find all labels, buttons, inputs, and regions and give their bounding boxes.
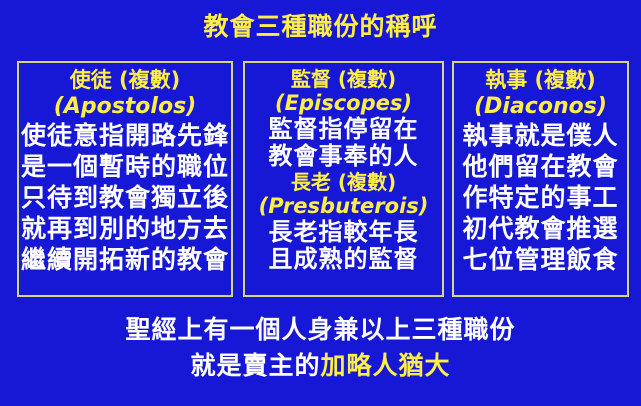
box-3-body-line-4: 初代教會推選 [454,213,627,244]
box-3-heading-greek: (Diaconos) [454,93,627,120]
page-title: 教會三種職份的稱呼 [0,12,641,42]
box-2-heading2-greek: (Presbuterois) [245,194,442,219]
box-2-body2-line-2: 且成熟的監督 [245,246,442,273]
footer-note: 聖經上有一個人身兼以上三種職份 就是賣主的加略人猶大 [0,312,641,384]
footer-line-1: 聖經上有一個人身兼以上三種職份 [0,312,641,348]
box-3-heading-cn: 執事 (複數) [454,67,627,93]
slide-root: 教會三種職份的稱呼 使徒 (複數) (Apostolos) 使徒意指開路先鋒 是… [0,0,641,406]
box-2-body2-line-1: 長老指較年長 [245,219,442,246]
box-1-body-line-1: 使徒意指開路先鋒 [19,120,231,151]
box-1-body-line-4: 就再到別的地方去 [19,213,231,244]
office-box-apostolos: 使徒 (複數) (Apostolos) 使徒意指開路先鋒 是一個暫時的職位 只待… [17,61,233,297]
box-2-heading-greek: (Episcopes) [245,91,442,116]
box-3-body-line-1: 執事就是僕人 [454,120,627,151]
box-1-body-line-2: 是一個暫時的職位 [19,151,231,182]
footer-line-2-highlight: 加略人猶大 [321,351,451,380]
office-box-episcopes: 監督 (複數) (Episcopes) 監督指停留在 教會事奉的人 長老 (複數… [243,61,444,297]
footer-line-2-plain: 就是賣主的 [190,351,320,380]
box-1-body-line-3: 只待到教會獨立後 [19,182,231,213]
footer-line-2: 就是賣主的加略人猶大 [0,348,641,384]
box-3-body-line-3: 作特定的事工 [454,182,627,213]
box-3-body-line-2: 他們留在教會 [454,151,627,182]
office-boxes-row: 使徒 (複數) (Apostolos) 使徒意指開路先鋒 是一個暫時的職位 只待… [17,61,629,297]
box-2-heading-cn: 監督 (複數) [245,67,442,91]
box-1-heading-greek: (Apostolos) [19,93,231,120]
box-3-body-line-5: 七位管理飯食 [454,244,627,275]
box-1-heading-cn: 使徒 (複數) [19,67,231,93]
box-2-heading2-cn: 長老 (複數) [245,170,442,194]
office-box-diaconos: 執事 (複數) (Diaconos) 執事就是僕人 他們留在教會 作特定的事工 … [452,61,629,297]
box-1-body-line-5: 繼續開拓新的教會 [19,244,231,275]
box-2-body-line-1: 監督指停留在 [245,116,442,143]
box-2-body-line-2: 教會事奉的人 [245,143,442,170]
